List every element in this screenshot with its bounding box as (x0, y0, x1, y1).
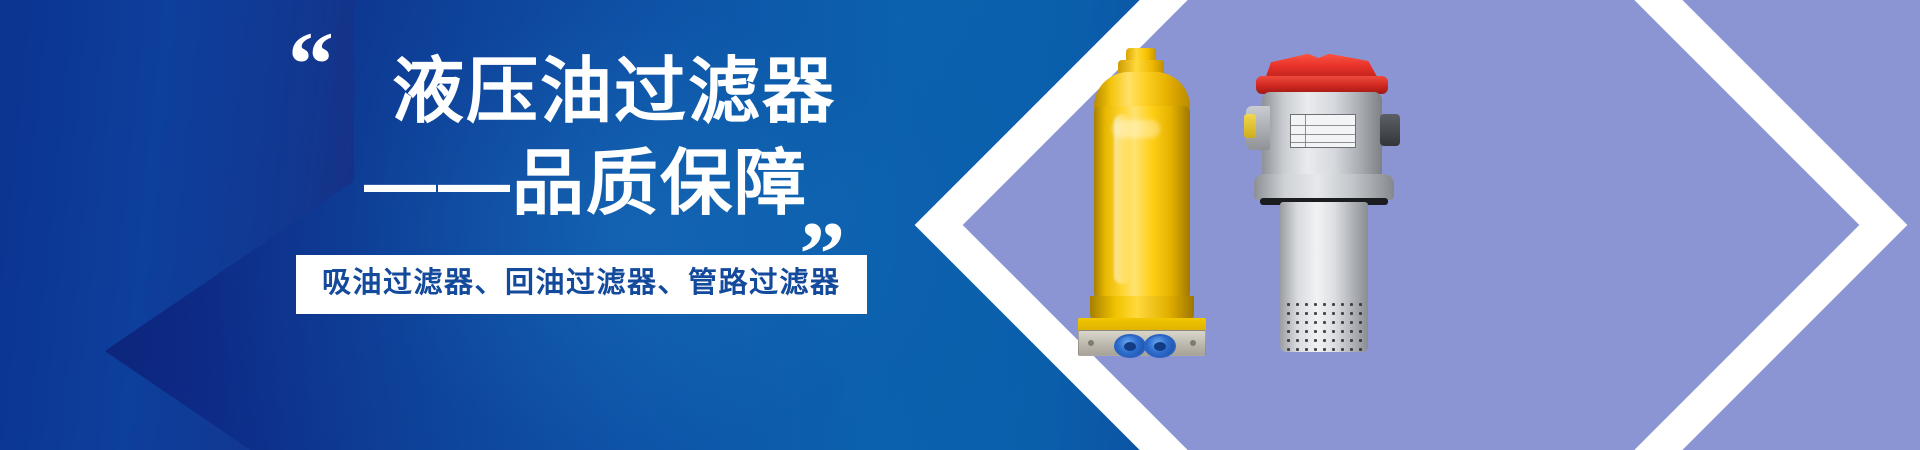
yellow-filter-port-hole-right (1154, 342, 1166, 351)
headline-line-1: 液压油过滤器 (100, 46, 860, 138)
return-filter-indicator-knob (1380, 114, 1400, 146)
yellow-filter-specular-flare (1112, 120, 1160, 138)
nameplate-rule-3 (1291, 142, 1355, 143)
headline-line-2: ——品质保障 (100, 138, 860, 230)
nameplate-rule-2 (1291, 134, 1355, 135)
product-yellow-suction-filter (1078, 48, 1206, 348)
hero-banner: “ 液压油过滤器 ——品质保障 „ 吸油过滤器、回油过滤器、管路过滤器 (0, 0, 1920, 450)
return-filter-yellow-tag (1244, 114, 1256, 138)
return-filter-nameplate (1290, 114, 1356, 148)
yellow-filter-bolt-right (1190, 340, 1196, 346)
headline-block: “ 液压油过滤器 ——品质保障 „ (0, 0, 900, 450)
nameplate-rule-1 (1291, 125, 1355, 126)
return-filter-perforated-screen (1284, 300, 1364, 352)
subtitle-text: 吸油过滤器、回油过滤器、管路过滤器 (322, 267, 841, 300)
page-title: 液压油过滤器 ——品质保障 (100, 46, 860, 230)
return-filter-mount-flange (1254, 174, 1394, 200)
product-grey-return-filter (1240, 52, 1408, 352)
subtitle-box: 吸油过滤器、回油过滤器、管路过滤器 (296, 255, 867, 314)
yellow-filter-bolt-left (1088, 340, 1094, 346)
close-quote-mark: „ (800, 160, 842, 252)
yellow-filter-highlight (1114, 114, 1130, 284)
yellow-filter-port-hole-left (1124, 342, 1136, 351)
